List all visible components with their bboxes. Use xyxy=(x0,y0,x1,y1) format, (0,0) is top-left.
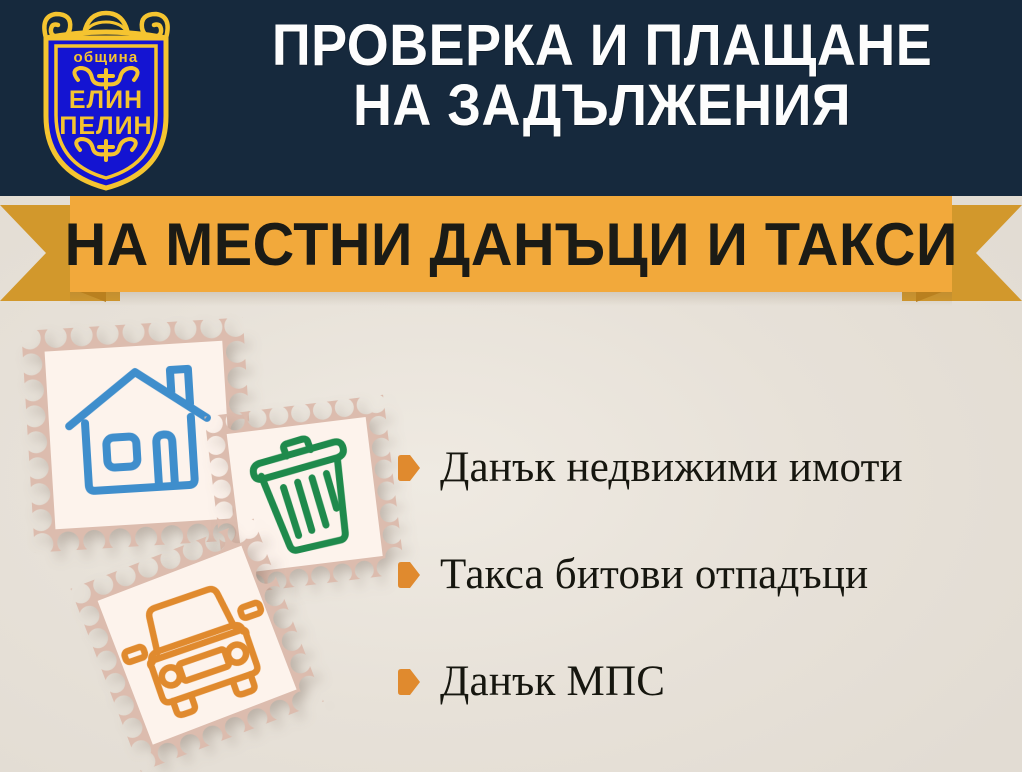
arrow-bullet-icon xyxy=(398,669,420,695)
header-bar: община ЕЛИН ПЕЛИН ПРОВЕРКА И ПЛАЩАНЕ НА … xyxy=(0,0,1022,196)
list-item-label: Данък МПС xyxy=(440,657,665,706)
list-item[interactable]: Данък недвижими имоти xyxy=(398,414,1022,521)
tax-type-list: Данък недвижими имоти Такса битови отпад… xyxy=(398,414,1022,735)
list-item-label: Такса битови отпадъци xyxy=(440,550,868,599)
svg-text:община: община xyxy=(74,49,139,66)
list-item[interactable]: Данък МПС xyxy=(398,628,1022,735)
list-item-label: Данък недвижими имоти xyxy=(440,443,903,492)
svg-text:ПЕЛИН: ПЕЛИН xyxy=(59,112,152,140)
subtitle-ribbon: НА МЕСТНИ ДАНЪЦИ И ТАКСИ xyxy=(0,196,1022,308)
ribbon-text: НА МЕСТНИ ДАНЪЦИ И ТАКСИ xyxy=(64,210,957,279)
poster-title-line2: НА ЗАДЪЛЖЕНИЯ xyxy=(224,76,979,136)
municipality-crest-logo: община ЕЛИН ПЕЛИН xyxy=(18,4,194,192)
svg-text:ЕЛИН: ЕЛИН xyxy=(69,86,143,114)
poster-canvas: община ЕЛИН ПЕЛИН ПРОВЕРКА И ПЛАЩАНЕ НА … xyxy=(0,0,1022,772)
poster-title-line1: ПРОВЕРКА И ПЛАЩАНЕ xyxy=(272,13,932,78)
arrow-bullet-icon xyxy=(398,455,420,481)
poster-title: ПРОВЕРКА И ПЛАЩАНЕ НА ЗАДЪЛЖЕНИЯ xyxy=(224,16,979,135)
ribbon-banner: НА МЕСТНИ ДАНЪЦИ И ТАКСИ xyxy=(70,196,952,292)
arrow-bullet-icon xyxy=(398,562,420,588)
ribbon-drop-shadow xyxy=(70,292,952,306)
list-item[interactable]: Такса битови отпадъци xyxy=(398,521,1022,628)
stamp-collage xyxy=(0,300,420,772)
